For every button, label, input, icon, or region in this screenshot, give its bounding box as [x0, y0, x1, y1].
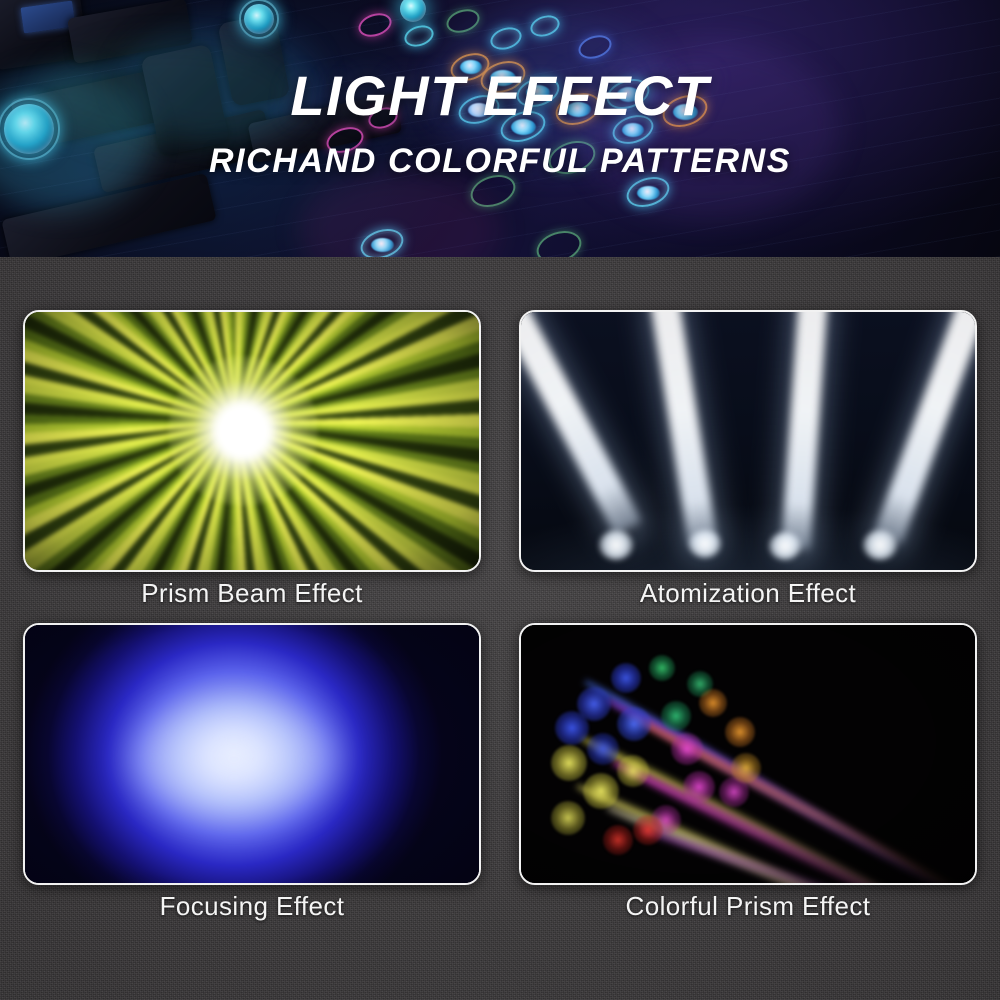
prism-flower-cluster	[611, 663, 641, 693]
focusing-vignette	[25, 625, 479, 883]
effect-cell-atomization: Atomization Effect	[519, 310, 977, 610]
effect-caption-prism-beam: Prism Beam Effect	[23, 578, 481, 609]
prism-flower-cluster	[555, 711, 589, 745]
light-effect-product-banner: LIGHT EFFECT RICHAND COLORFUL PATTERNS P…	[0, 0, 1000, 1000]
prism-flower-cluster	[671, 733, 703, 765]
effect-image-colorful-prism	[519, 623, 977, 885]
prism-core-hotspot	[216, 404, 270, 458]
banner-title: LIGHT EFFECT	[290, 68, 709, 124]
prism-flower-cluster	[617, 707, 651, 741]
prism-flower-cluster	[725, 717, 755, 747]
effect-image-prism-beam	[23, 310, 481, 572]
banner-headline-block: LIGHT EFFECT RICHAND COLORFUL PATTERNS	[0, 0, 1000, 257]
effect-caption-colorful-prism: Colorful Prism Effect	[519, 891, 977, 922]
atomization-beam-tip	[863, 530, 897, 560]
effects-grid: Prism Beam Effect Atomization Effect	[23, 310, 977, 970]
atomization-beam-tip	[689, 530, 721, 558]
prism-flower-cluster	[699, 689, 727, 717]
effect-caption-focusing: Focusing Effect	[23, 891, 481, 922]
prism-flower-cluster	[583, 773, 619, 809]
prism-flower-cluster	[603, 825, 633, 855]
prism-flower-cluster	[649, 655, 675, 681]
prism-flower-cluster	[587, 733, 619, 765]
effect-cell-colorful-prism: Colorful Prism Effect	[519, 623, 977, 923]
effect-image-focusing	[23, 623, 481, 885]
prism-flower-cluster	[551, 745, 587, 781]
prism-flower-cluster	[617, 755, 649, 787]
effect-cell-focusing: Focusing Effect	[23, 623, 481, 923]
prism-flower-cluster	[661, 701, 691, 731]
header-banner: LIGHT EFFECT RICHAND COLORFUL PATTERNS	[0, 0, 1000, 257]
effect-cell-prism-beam: Prism Beam Effect	[23, 310, 481, 610]
prism-flower-cluster	[683, 771, 715, 803]
prism-flower-cluster	[633, 815, 663, 845]
atomization-beam-tip	[769, 532, 801, 560]
prism-flower-cluster	[731, 753, 761, 783]
atomization-beam-tip	[599, 530, 633, 560]
effect-caption-atomization: Atomization Effect	[519, 578, 977, 609]
banner-subtitle: RICHAND COLORFUL PATTERNS	[209, 144, 791, 178]
prism-flower-cluster	[551, 801, 585, 835]
effect-image-atomization	[519, 310, 977, 572]
